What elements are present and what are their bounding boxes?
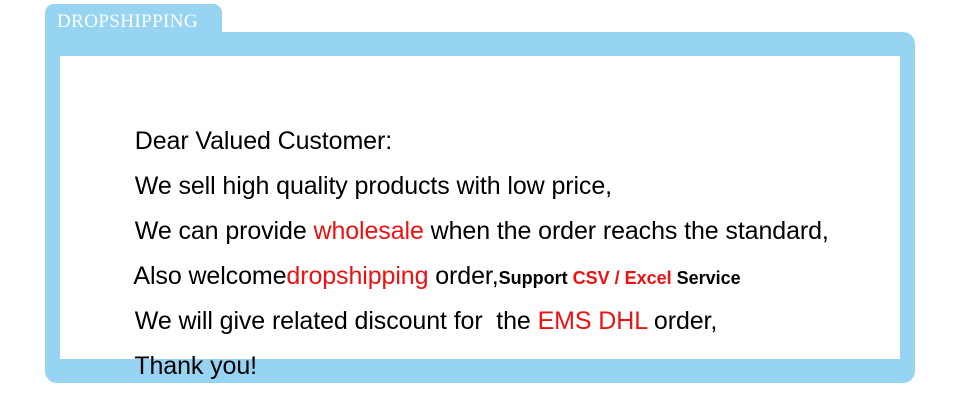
letter-body: Dear Valued Customer: We sell high quali… — [80, 74, 892, 344]
ems-dhl-highlight: EMS DHL — [538, 307, 648, 335]
dropshipping-tab[interactable]: DROPSHIPPING — [45, 4, 222, 38]
letter-panel: Dear Valued Customer: We sell high quali… — [60, 56, 900, 359]
dropshipping-highlight: dropshipping — [286, 262, 428, 290]
csv-excel-highlight: CSV / Excel — [573, 268, 672, 288]
letter-line-5-post: order, — [647, 307, 717, 335]
dropshipping-tab-label: DROPSHIPPING — [57, 12, 198, 31]
letter-line-3-post: when the order reachs the standard, — [424, 217, 829, 245]
letter-line-1: Dear Valued Customer: — [80, 74, 892, 119]
letter-line-1-text: Dear Valued Customer: — [135, 127, 392, 155]
letter-line-3-pre: We can provide — [135, 217, 314, 245]
letter-line-4-pre: Also welcome — [133, 262, 286, 290]
letter-line-2-text: We sell high quality products with low p… — [135, 172, 612, 200]
support-label: Support — [499, 268, 573, 288]
letter-line-4-mid: order, — [428, 262, 498, 290]
service-label: Service — [672, 268, 741, 288]
letter-line-5-pre: We will give related discount for the — [135, 307, 538, 335]
dropshipping-banner: DROPSHIPPING Dear Valued Customer: We se… — [0, 0, 960, 400]
wholesale-highlight: wholesale — [313, 217, 423, 245]
letter-line-6-text: Thank you! — [134, 352, 257, 380]
